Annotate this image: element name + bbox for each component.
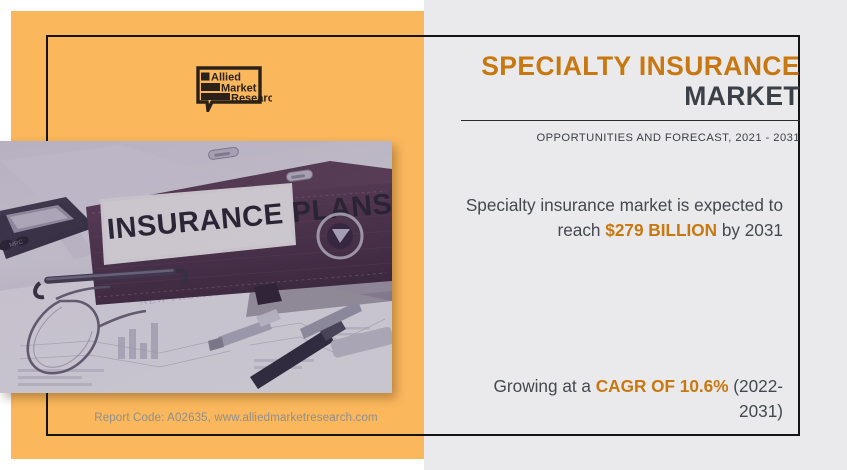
cagr-stat: Growing at a CAGR OF 10.6% (2022-2031): [461, 374, 783, 424]
title-divider: [461, 120, 800, 121]
cagr-prefix: Growing at a: [494, 376, 596, 396]
cagr-highlight: CAGR OF 10.6%: [596, 376, 729, 396]
header-block: SPECIALTY INSURANCE MARKET OPPORTUNITIES…: [461, 52, 800, 144]
forecast-suffix: by 2031: [717, 220, 783, 240]
page-subtitle: OPPORTUNITIES AND FORECAST, 2021 - 2031: [461, 132, 800, 144]
page-title-line2: MARKET: [461, 82, 800, 112]
page-title-line1: SPECIALTY INSURANCE: [461, 52, 800, 82]
infographic-container: Allied Market Research: [0, 0, 847, 470]
logo-text-research: Research: [231, 93, 272, 105]
insurance-plans-photo: STAY PROFITS NEW PROFITS: [0, 141, 392, 393]
allied-market-research-logo: Allied Market Research: [196, 66, 272, 112]
report-code-text: Report Code: A02635, www.alliedmarketres…: [56, 412, 416, 424]
forecast-highlight: $279 BILLION: [605, 220, 717, 240]
forecast-stat: Specialty insurance market is expected t…: [461, 193, 783, 243]
cagr-suffix: (2022-2031): [729, 376, 783, 421]
